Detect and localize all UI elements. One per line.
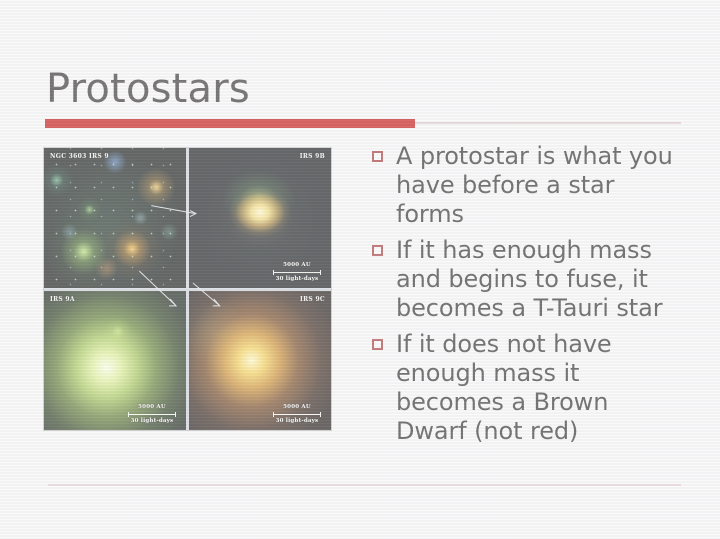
bullet-text: If it does not have enough mass it becom… bbox=[396, 330, 684, 446]
scalebar-distance-lightdays: 30 light-days bbox=[269, 418, 325, 425]
panel-irs9b: IRS 9B 5000 AU 30 light-days bbox=[189, 148, 331, 288]
scalebar-cap-left bbox=[273, 412, 274, 417]
scalebar-distance-lightdays: 30 light-days bbox=[124, 418, 180, 425]
protostar-figure: NGC 3603 IRS 9 IRS 9B 5000 AU 30 light-d… bbox=[43, 147, 332, 431]
page-title: Protostars bbox=[46, 66, 250, 112]
panel-irs9c: IRS 9C 5000 AU 30 light-days bbox=[189, 291, 331, 431]
protostar-panel-grid: NGC 3603 IRS 9 IRS 9B 5000 AU 30 light-d… bbox=[44, 148, 331, 430]
square-bullet-icon bbox=[372, 339, 383, 350]
panel-survey: NGC 3603 IRS 9 bbox=[44, 148, 186, 288]
scalebar-line bbox=[269, 270, 325, 275]
scalebar-cap-left bbox=[128, 412, 129, 417]
scalebar-cap-right bbox=[175, 412, 176, 417]
bullet-text: A protostar is what you have before a st… bbox=[396, 142, 684, 229]
scalebar-line bbox=[124, 412, 180, 417]
starfield-texture bbox=[44, 148, 186, 288]
panel-irs9c-label: IRS 9C bbox=[300, 296, 325, 303]
scalebar-cap-right bbox=[320, 412, 321, 417]
panel-irs9b-scalebar: 5000 AU 30 light-days bbox=[269, 262, 325, 283]
panel-irs9a-scalebar: 5000 AU 30 light-days bbox=[124, 404, 180, 425]
bullet-text: If it has enough mass and begins to fuse… bbox=[396, 236, 684, 323]
bullet-list: A protostar is what you have before a st… bbox=[372, 142, 684, 453]
footer-divider bbox=[48, 484, 681, 486]
panel-irs9c-scalebar: 5000 AU 30 light-days bbox=[269, 404, 325, 425]
scalebar-distance-au: 5000 AU bbox=[124, 404, 180, 411]
scalebar-distance-lightdays: 30 light-days bbox=[269, 276, 325, 283]
panel-irs9b-label: IRS 9B bbox=[300, 153, 325, 160]
scalebar-cap-right bbox=[320, 270, 321, 275]
bullet-item: A protostar is what you have before a st… bbox=[372, 142, 684, 229]
square-bullet-icon bbox=[372, 245, 383, 256]
scalebar-line bbox=[269, 412, 325, 417]
scalebar-cap-left bbox=[273, 270, 274, 275]
slide: Protostars NGC 3603 IRS 9 IRS 9B 5000 AU bbox=[0, 0, 720, 539]
panel-irs9a: IRS 9A 5000 AU 30 light-days bbox=[44, 291, 186, 431]
panel-irs9a-label: IRS 9A bbox=[50, 296, 75, 303]
title-divider-accent-bar bbox=[45, 119, 415, 128]
panel-survey-label: NGC 3603 IRS 9 bbox=[50, 153, 109, 160]
bullet-item: If it has enough mass and begins to fuse… bbox=[372, 236, 684, 323]
title-divider bbox=[45, 119, 681, 128]
bullet-item: If it does not have enough mass it becom… bbox=[372, 330, 684, 446]
scalebar-distance-au: 5000 AU bbox=[269, 262, 325, 269]
square-bullet-icon bbox=[372, 151, 383, 162]
scalebar-distance-au: 5000 AU bbox=[269, 404, 325, 411]
